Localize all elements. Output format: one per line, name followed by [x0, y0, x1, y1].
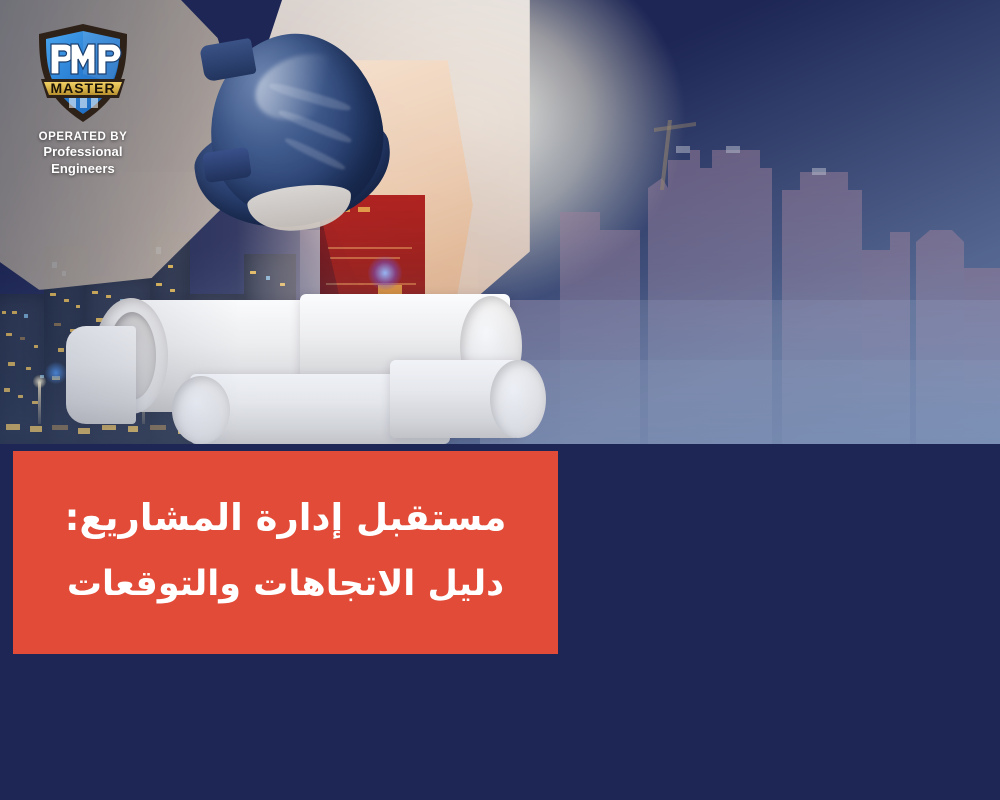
hard-hat-icon — [196, 22, 392, 237]
poster-canvas: MASTER OPERATED BY Professional Engineer… — [0, 0, 1000, 800]
lens-flare — [368, 256, 402, 290]
blueprint-roll-icon — [60, 290, 560, 444]
shield-banner-text: MASTER — [50, 80, 115, 96]
logo-caption-operated-by: OPERATED BY — [18, 130, 148, 144]
hero-photo — [0, 0, 1000, 444]
title-line-1: مستقبل إدارة المشاريع: — [65, 496, 507, 540]
logo-caption-professional-engineers: Professional Engineers — [18, 144, 148, 177]
brand-logo-lockup[interactable]: MASTER OPERATED BY Professional Engineer… — [18, 22, 148, 177]
pmp-master-shield-icon[interactable]: MASTER — [35, 22, 131, 124]
title-line-2: دليل الاتجاهات والتوقعات — [67, 564, 504, 605]
title-block: مستقبل إدارة المشاريع: دليل الاتجاهات وا… — [13, 451, 558, 654]
